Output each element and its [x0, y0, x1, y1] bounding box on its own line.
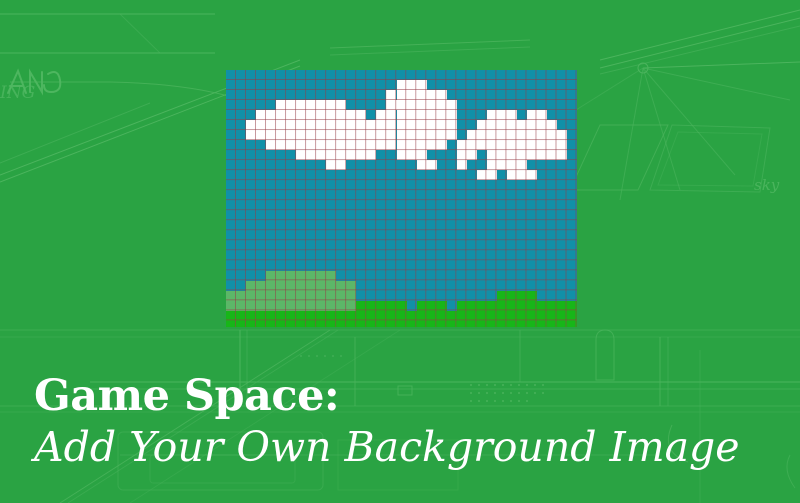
pixel-block-cloud-middle [447, 100, 457, 140]
pixel-block-cloud-right [477, 170, 497, 180]
pixel-block-ground [497, 291, 537, 301]
pixel-block-cloud-middle [386, 90, 396, 150]
pixel-block-cloud-right [487, 110, 517, 170]
pixel-block-cloud-left [326, 160, 346, 170]
pixel-block-cloud-left [266, 110, 276, 150]
pixel-block-hill [226, 291, 356, 301]
pixel-block-cloud-left [346, 110, 356, 160]
pixel-block-cloud-right [547, 120, 557, 160]
pixel-block-cloud-right [527, 110, 547, 160]
pixel-block-cloud-middle [397, 80, 427, 160]
pixel-block-cloud-left [256, 110, 266, 140]
page-subtitle: Add Your Own Background Image [34, 422, 774, 472]
page-title: Game Space: [34, 372, 774, 420]
pixel-block-ground [417, 301, 447, 311]
title-block: Game Space: Add Your Own Background Imag… [34, 372, 774, 472]
pixel-block-cloud-right [557, 130, 567, 160]
pixel-sprite-layer [226, 70, 577, 327]
pixel-block-ground [226, 311, 577, 327]
pixel-block-cloud-right [457, 140, 467, 170]
pixel-block-hill [226, 301, 356, 311]
pixel-block-cloud-right [477, 120, 487, 150]
pixel-block-cloud-middle [366, 120, 376, 150]
pixel-block-hill [246, 281, 356, 291]
pixel-block-cloud-middle [417, 160, 437, 170]
pixel-block-cloud-right [467, 130, 477, 160]
pixel-block-ground [356, 301, 406, 311]
pixel-block-cloud-right [507, 170, 537, 180]
pixel-block-hill [266, 271, 336, 281]
pixel-block-ground [537, 301, 577, 311]
game-background-canvas[interactable] [226, 70, 577, 327]
pixel-block-cloud-left [246, 120, 256, 140]
pixel-block-cloud-middle [376, 110, 386, 150]
pixel-block-cloud-left [296, 100, 346, 160]
pixel-block-cloud-left [356, 110, 366, 160]
pixel-block-cloud-left [276, 100, 296, 150]
sketch-label-ing: ING [0, 83, 35, 103]
sketch-label-sky: sky [754, 176, 780, 194]
pixel-block-cloud-right [517, 120, 527, 170]
hero-banner: sky ING Game Space: Add Your Own Backgro… [0, 0, 800, 503]
pixel-block-cloud-middle [427, 90, 447, 150]
